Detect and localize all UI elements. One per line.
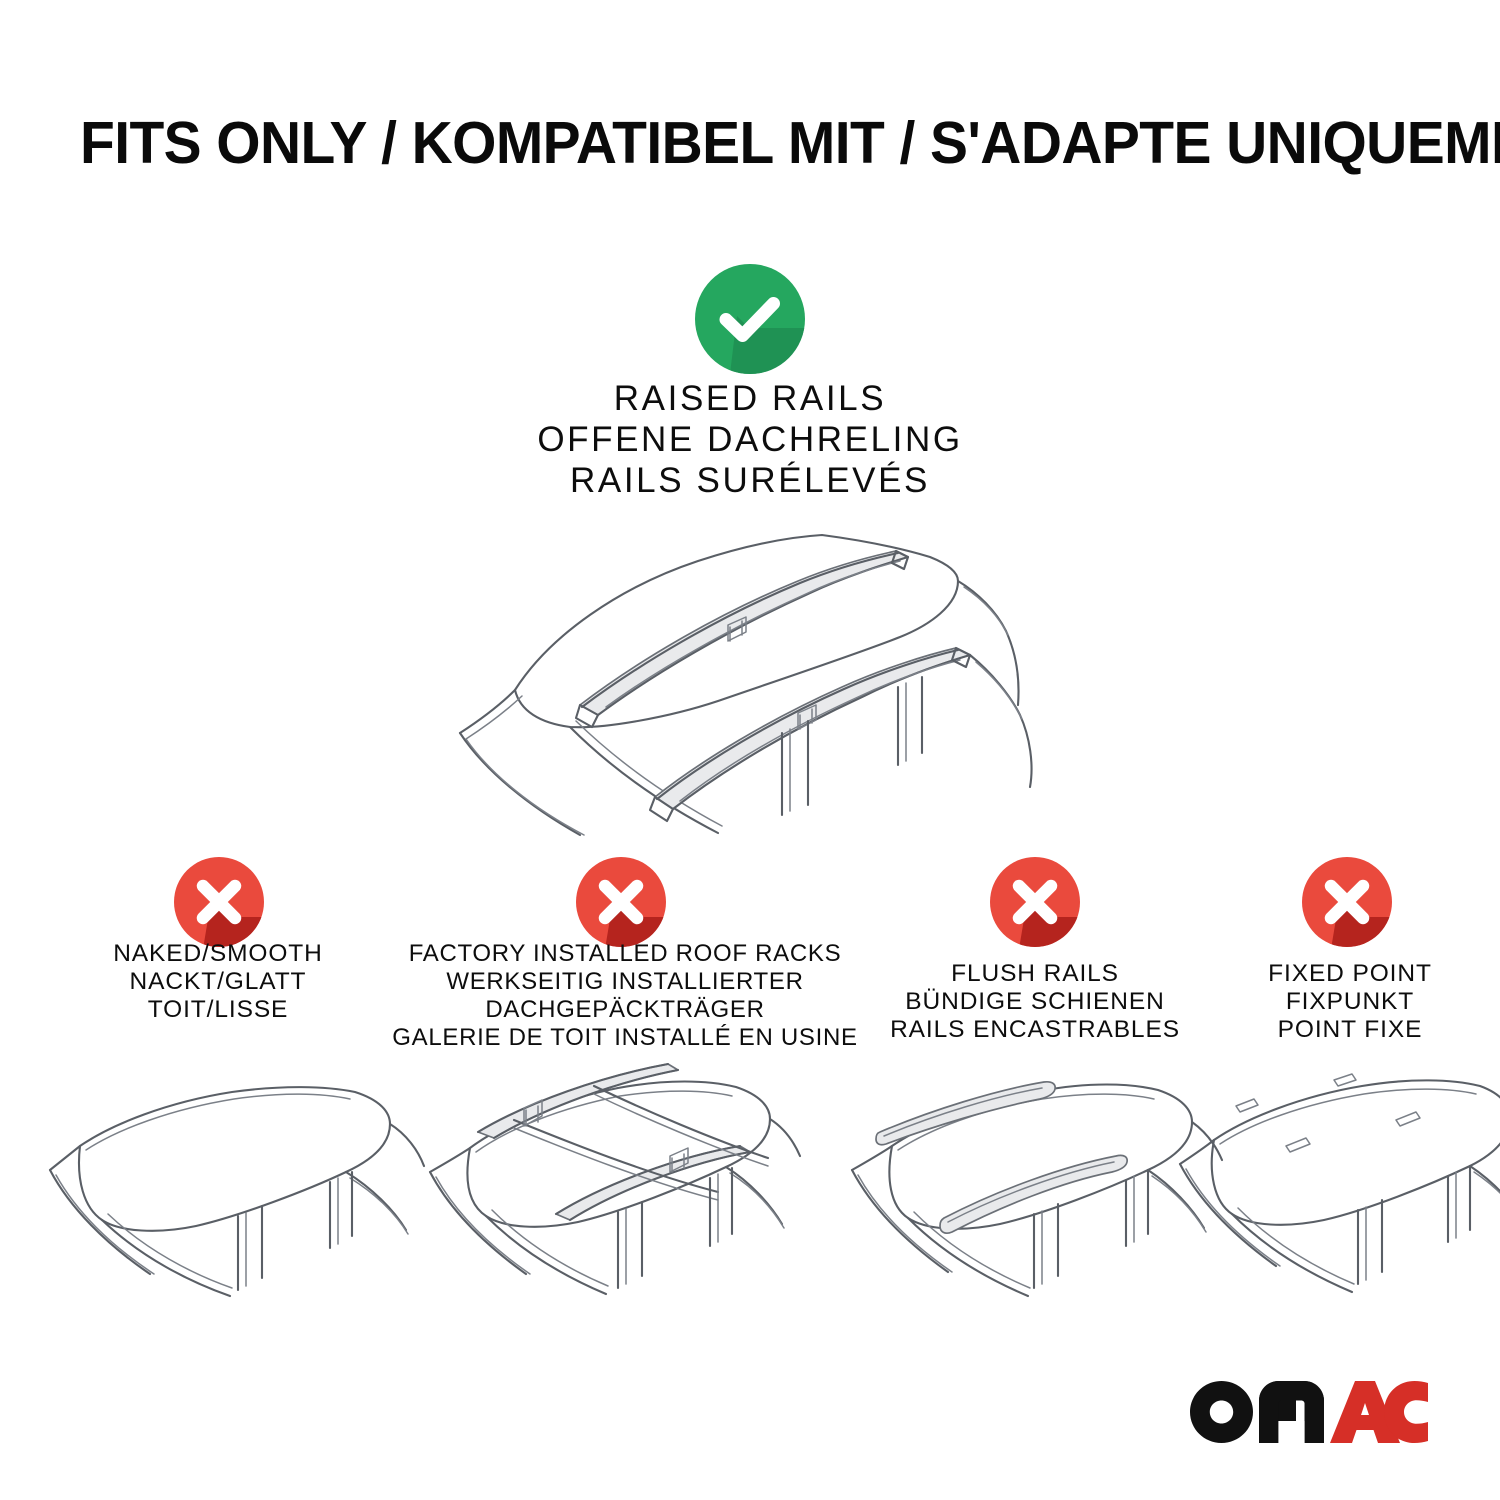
car-roof-naked-smooth-illustration <box>50 1068 430 1298</box>
compatible-label-line-1: RAISED RAILS <box>350 378 1150 419</box>
factory-label-line-3: DACHGEPÄCKTRÄGER <box>365 996 885 1024</box>
compatible-label-line-2: OFFENE DACHRELING <box>350 419 1150 460</box>
check-circle-icon <box>693 262 807 376</box>
x-circle-icon <box>1300 855 1394 949</box>
fixed-point-label-group: FIXED POINT FIXPUNKT POINT FIXE <box>1215 960 1485 1044</box>
flush-label-line-3: RAILS ENCASTRABLES <box>855 1016 1215 1044</box>
compatible-label-group: RAISED RAILS OFFENE DACHRELING RAILS SUR… <box>350 378 1150 501</box>
car-roof-flush-rails-illustration <box>848 1066 1228 1298</box>
factory-label-line-2: WERKSEITIG INSTALLIERTER <box>365 968 885 996</box>
omac-logo <box>1190 1382 1428 1442</box>
car-roof-fixed-point-illustration <box>1178 1066 1500 1298</box>
flush-rails-label-group: FLUSH RAILS BÜNDIGE SCHIENEN RAILS ENCAS… <box>855 960 1215 1044</box>
factory-racks-label-group: FACTORY INSTALLED ROOF RACKS WERKSEITIG … <box>365 940 885 1052</box>
page-title: FITS ONLY / KOMPATIBEL MIT / S'ADAPTE UN… <box>80 112 1378 174</box>
flush-label-line-2: BÜNDIGE SCHIENEN <box>855 988 1215 1016</box>
naked-label-line-1: NAKED/SMOOTH <box>38 940 398 968</box>
naked-label-line-3: TOIT/LISSE <box>38 996 398 1024</box>
car-roof-raised-rails-illustration <box>430 515 1090 835</box>
car-roof-factory-racks-illustration <box>418 1062 803 1298</box>
naked-smooth-label-group: NAKED/SMOOTH NACKT/GLATT TOIT/LISSE <box>38 940 398 1024</box>
flush-label-line-1: FLUSH RAILS <box>855 960 1215 988</box>
fixed-label-line-1: FIXED POINT <box>1215 960 1485 988</box>
x-circle-icon <box>988 855 1082 949</box>
x-circle-icon <box>574 855 668 949</box>
factory-label-line-4: GALERIE DE TOIT INSTALLÉ EN USINE <box>365 1024 885 1052</box>
compatible-label-line-3: RAILS SURÉLEVÉS <box>350 460 1150 501</box>
fixed-label-line-2: FIXPUNKT <box>1215 988 1485 1016</box>
x-circle-icon <box>172 855 266 949</box>
factory-label-line-1: FACTORY INSTALLED ROOF RACKS <box>365 940 885 968</box>
fixed-label-line-3: POINT FIXE <box>1215 1016 1485 1044</box>
naked-label-line-2: NACKT/GLATT <box>38 968 398 996</box>
